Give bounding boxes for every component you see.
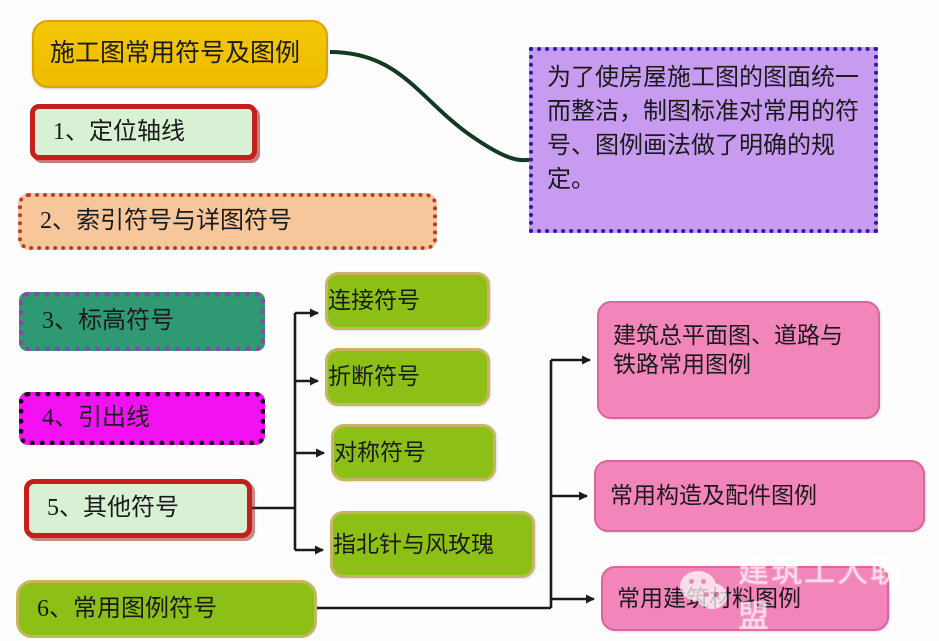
diagram-title-text: 施工图常用符号及图例 [50,38,326,70]
diagram-canvas: 施工图常用符号及图例 为了使房屋施工图的图面统一而整洁，制图标准对常用的符号、图… [0,0,939,641]
curve-title-to-note [330,52,529,160]
diagram-title-box: 施工图常用符号及图例 [32,20,328,88]
outline-item-2-label: 2、索引符号与详图符号 [40,206,433,237]
outline-item-6[interactable]: 6、常用图例符号 [16,580,317,638]
common-legend-3[interactable]: 常用建筑材料图例 [601,566,889,631]
outline-item-6-label: 6、常用图例符号 [37,594,314,625]
other-symbol-3[interactable]: 对称符号 [331,424,496,481]
common-legend-2[interactable]: 常用构造及配件图例 [594,460,925,532]
outline-item-3-label: 3、标高符号 [42,306,260,337]
common-legend-3-label: 常用建筑材料图例 [617,584,887,613]
other-symbol-2[interactable]: 折断符号 [325,348,490,406]
outline-item-3[interactable]: 3、标高符号 [19,292,265,351]
other-symbol-4[interactable]: 指北针与风玫瑰 [330,511,535,578]
other-symbol-3-label: 对称符号 [334,438,493,467]
note-box: 为了使房屋施工图的图面统一而整洁，制图标准对常用的符号、图例画法做了明确的规定。 [529,47,878,233]
common-legend-1[interactable]: 建筑总平面图、道路与 铁路常用图例 [597,301,880,419]
outline-item-1[interactable]: 1、定位轴线 [30,104,257,160]
note-text: 为了使房屋施工图的图面统一而整洁，制图标准对常用的符号、图例画法做了明确的规定。 [547,61,862,197]
other-symbol-2-label: 折断符号 [328,362,487,391]
outline-item-4-label: 4、引出线 [42,403,260,434]
common-legend-2-label: 常用构造及配件图例 [610,481,923,510]
other-symbol-1[interactable]: 连接符号 [325,272,490,330]
outline-item-1-label: 1、定位轴线 [53,117,252,148]
outline-item-4[interactable]: 4、引出线 [19,392,265,445]
common-legend-1-label: 建筑总平面图、道路与 铁路常用图例 [613,321,878,380]
outline-item-5[interactable]: 5、其他符号 [24,479,252,538]
outline-item-5-label: 5、其他符号 [47,493,247,524]
outline-item-2[interactable]: 2、索引符号与详图符号 [18,193,437,250]
other-symbol-4-label: 指北针与风玫瑰 [333,530,532,559]
other-symbol-1-label: 连接符号 [328,286,487,315]
